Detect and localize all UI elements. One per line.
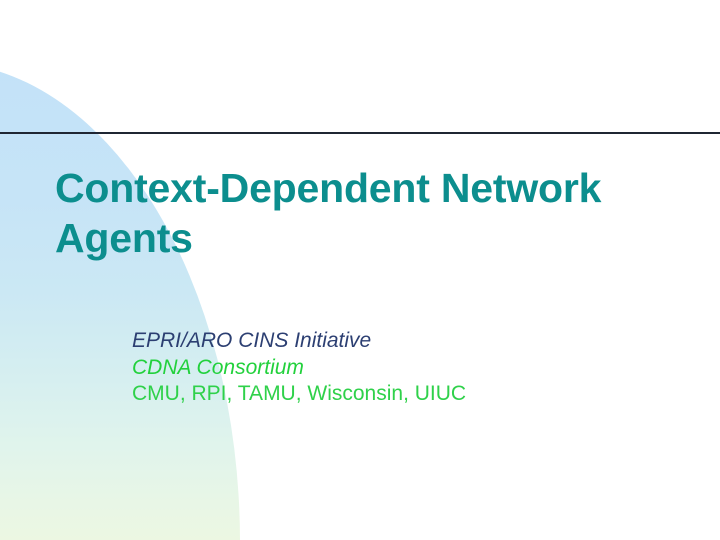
slide-title: Context-Dependent Network Agents [55, 163, 675, 263]
subtitle-line-institutions: CMU, RPI, TAMU, Wisconsin, UIUC [132, 381, 652, 408]
presentation-slide: Context-Dependent Network Agents EPRI/AR… [0, 0, 720, 540]
subtitle-block: EPRI/ARO CINS Initiative CDNA Consortium… [132, 328, 652, 408]
header-divider-line [0, 132, 720, 134]
subtitle-line-initiative: EPRI/ARO CINS Initiative [132, 328, 652, 355]
subtitle-line-consortium: CDNA Consortium [132, 355, 652, 382]
